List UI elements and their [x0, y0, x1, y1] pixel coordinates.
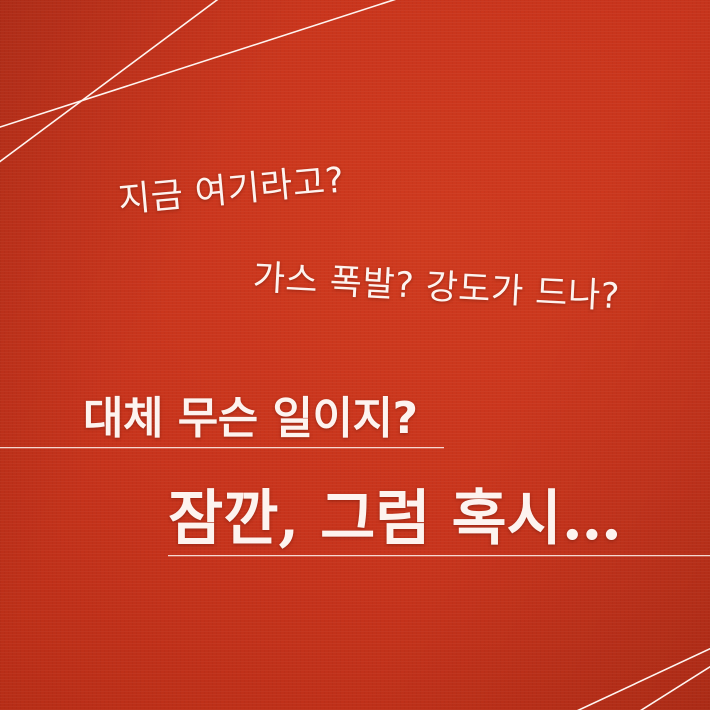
narration-card: 지금 여기라고? 가스 폭발? 강도가 드나? 대체 무슨 일이지? 잠깐, 그… — [0, 0, 710, 710]
narration-statement-1: 대체 무슨 일이지? — [83, 382, 418, 446]
narration-text-block: 지금 여기라고? 가스 폭발? 강도가 드나? 대체 무슨 일이지? 잠깐, 그… — [0, 0, 710, 710]
narration-thought-2: 가스 폭발? 강도가 드나? — [252, 249, 622, 319]
narration-thought-1: 지금 여기라고? — [116, 152, 347, 223]
statement-1-underline — [0, 447, 444, 448]
statement-2-underline — [168, 555, 710, 556]
narration-statement-2: 잠깐, 그럼 혹시… — [168, 470, 622, 557]
